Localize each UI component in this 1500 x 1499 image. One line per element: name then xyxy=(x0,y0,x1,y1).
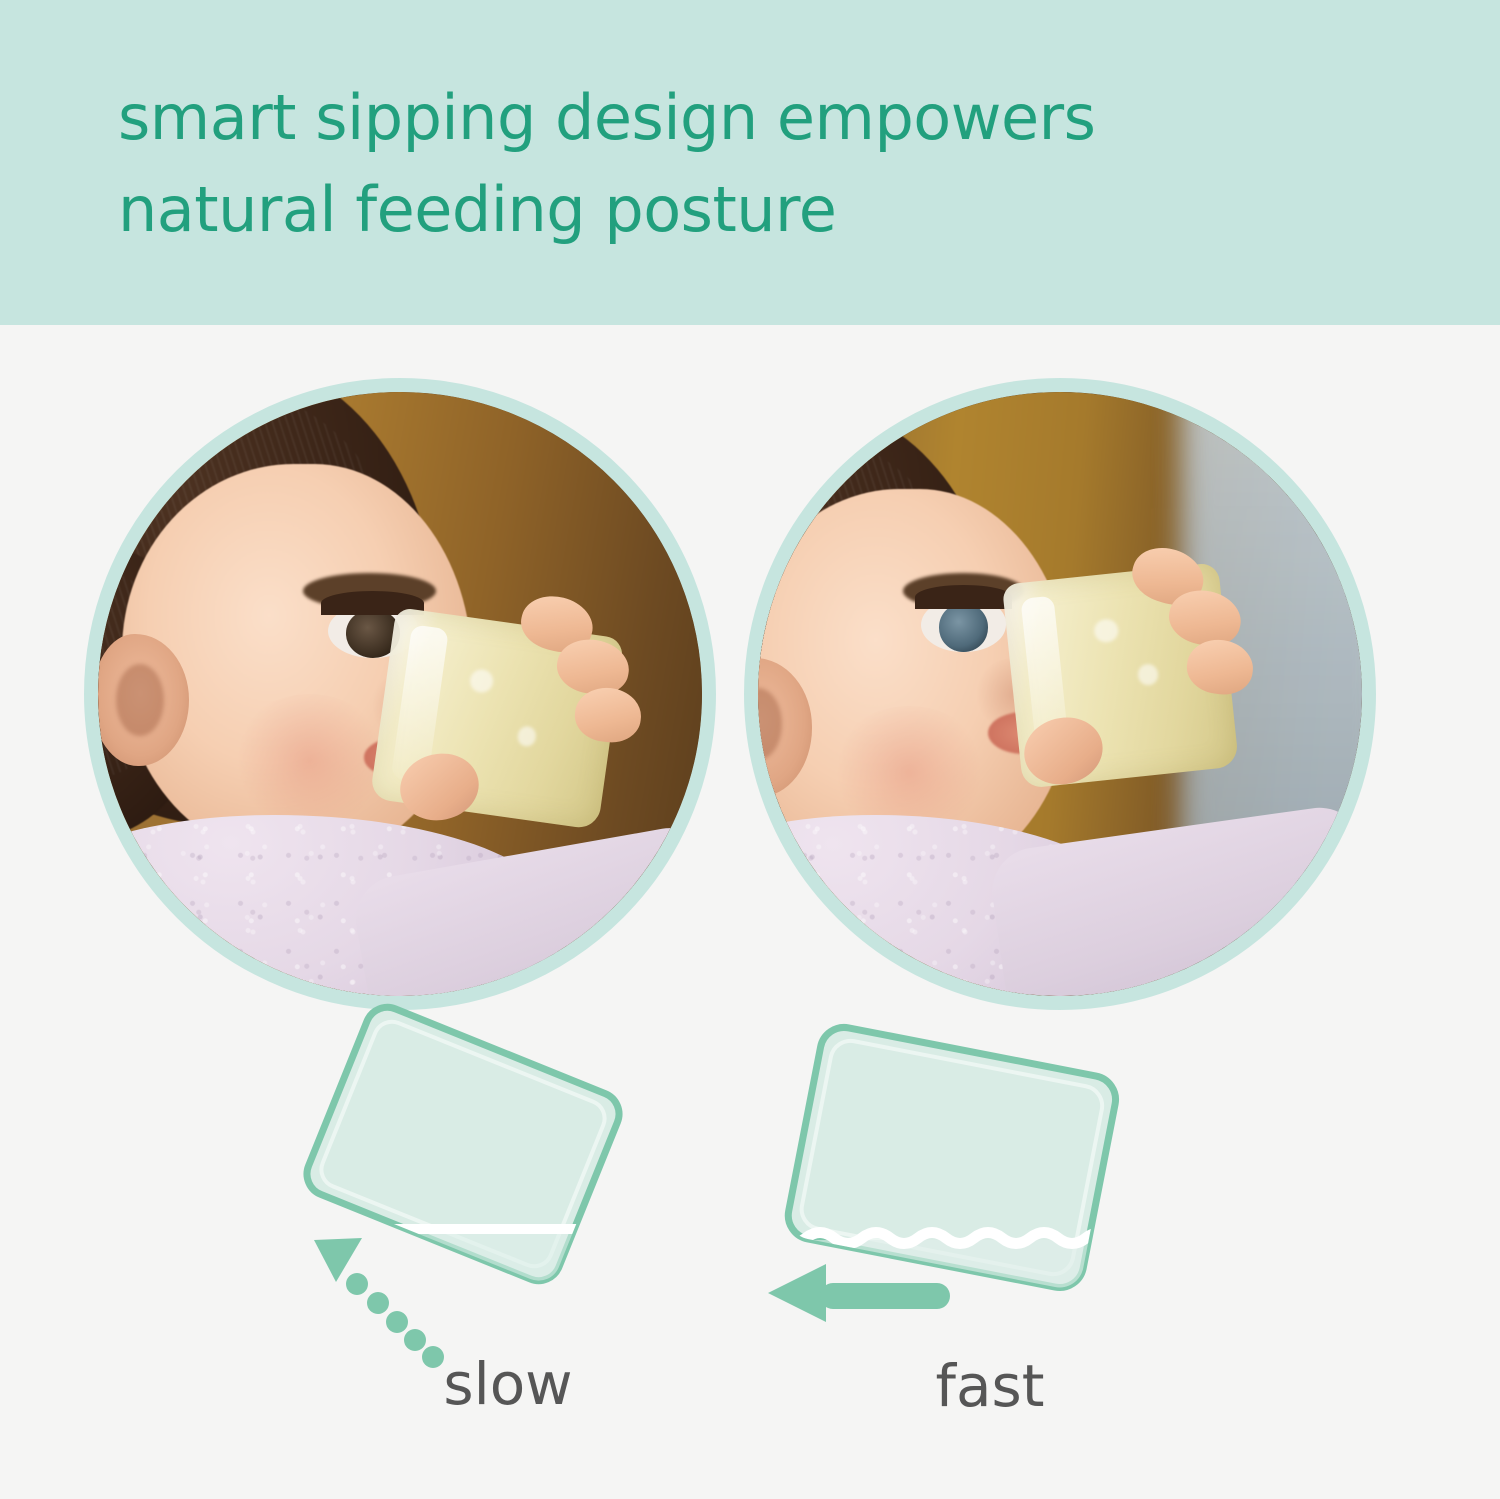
photo-row xyxy=(0,378,1500,1013)
photo-frame-left xyxy=(84,378,716,1010)
fast-direction-arrow-icon xyxy=(768,1264,950,1322)
slow-label: slow xyxy=(288,1350,728,1418)
page-title: smart sipping design empowers natural fe… xyxy=(118,72,1438,256)
header-band: smart sipping design empowers natural fe… xyxy=(0,0,1500,325)
slow-bottle-illustration xyxy=(300,1030,740,1360)
photo-right-scene xyxy=(758,392,1362,996)
diagram-row: slow fast xyxy=(0,1030,1500,1499)
fast-label: fast xyxy=(770,1352,1210,1420)
fast-bottle-illustration xyxy=(760,1040,1200,1370)
photo-left-scene xyxy=(98,392,702,996)
photo-right xyxy=(758,392,1362,996)
photo-left xyxy=(98,392,702,996)
diagram-fast: fast xyxy=(760,1040,1200,1499)
photo-frame-right xyxy=(744,378,1376,1010)
slow-direction-arrow-icon xyxy=(314,1238,444,1368)
diagram-slow: slow xyxy=(300,1030,740,1499)
